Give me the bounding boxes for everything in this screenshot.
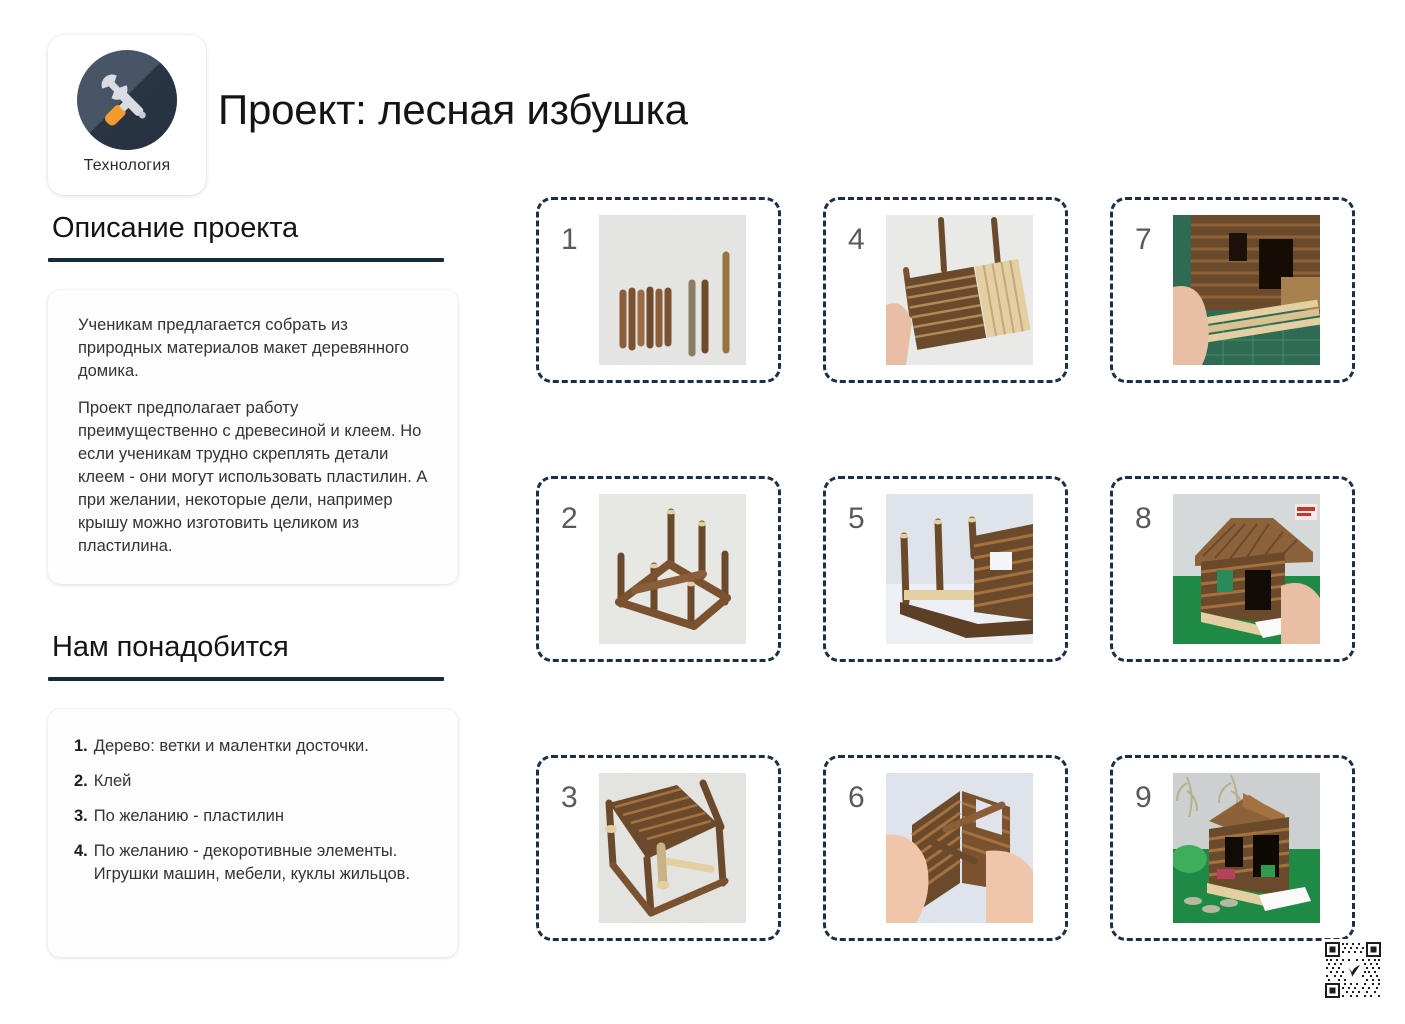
step-photo-assembling-walls bbox=[886, 773, 1033, 923]
description-paragraph-2: Проект предполагает работу преимуществен… bbox=[78, 397, 432, 558]
step-number: 5 bbox=[848, 502, 886, 536]
material-number: 4. bbox=[74, 840, 88, 886]
materials-panel: 1. Дерево: ветки и малентки досточки. 2.… bbox=[48, 709, 458, 957]
material-text: По желанию - пластилин bbox=[94, 805, 432, 828]
step-photo-floor-boards bbox=[886, 215, 1033, 365]
step-photo-first-wall bbox=[886, 494, 1033, 644]
page-title: Проект: лесная избушка bbox=[218, 86, 688, 134]
step-photo-floor-planks bbox=[599, 773, 746, 923]
subject-logo-label: Технология bbox=[84, 157, 171, 175]
materials-rule bbox=[48, 677, 444, 681]
step-number: 1 bbox=[561, 223, 599, 257]
step-number: 6 bbox=[848, 781, 886, 815]
list-item: 2. Клей bbox=[74, 770, 432, 793]
left-column: Описание проекта Ученикам предлагается с… bbox=[48, 212, 458, 957]
description-rule bbox=[48, 258, 444, 262]
step-number: 4 bbox=[848, 223, 886, 257]
list-item: 3. По желанию - пластилин bbox=[74, 805, 432, 828]
qr-code[interactable] bbox=[1322, 939, 1384, 1001]
step-card[interactable]: 1 bbox=[536, 197, 781, 383]
page-header: Технология Проект: лесная избушка bbox=[0, 0, 1405, 200]
material-number: 3. bbox=[74, 805, 88, 828]
material-text: По желанию - декоротивные элементы. Игру… bbox=[94, 840, 432, 886]
subject-logo-tile: Технология bbox=[48, 35, 206, 195]
step-number: 2 bbox=[561, 502, 599, 536]
step-card[interactable]: 4 bbox=[823, 197, 1068, 383]
step-card[interactable]: 8 bbox=[1110, 476, 1355, 662]
description-heading: Описание проекта bbox=[48, 212, 458, 245]
step-number: 8 bbox=[1135, 502, 1173, 536]
materials-heading: Нам понадобится bbox=[48, 631, 458, 664]
step-card[interactable]: 5 bbox=[823, 476, 1068, 662]
step-photo-finished-cabin bbox=[1173, 494, 1320, 644]
list-item: 4. По желанию - декоротивные элементы. И… bbox=[74, 840, 432, 886]
step-card[interactable]: 3 bbox=[536, 755, 781, 941]
material-number: 1. bbox=[74, 735, 88, 758]
description-paragraph-1: Ученикам предлагается собрать из природн… bbox=[78, 314, 432, 383]
step-number: 3 bbox=[561, 781, 599, 815]
list-item: 1. Дерево: ветки и малентки досточки. bbox=[74, 735, 432, 758]
steps-grid: 1 4 bbox=[536, 197, 1376, 941]
step-photo-sticks-sorted bbox=[599, 215, 746, 365]
step-card[interactable]: 9 bbox=[1110, 755, 1355, 941]
step-photo-base-frame bbox=[599, 494, 746, 644]
step-number: 7 bbox=[1135, 223, 1173, 257]
step-card[interactable]: 2 bbox=[536, 476, 781, 662]
material-text: Дерево: ветки и малентки досточки. bbox=[94, 735, 432, 758]
step-photo-roof-slats bbox=[1173, 215, 1320, 365]
material-text: Клей bbox=[94, 770, 432, 793]
material-number: 2. bbox=[74, 770, 88, 793]
wrench-screwdriver-icon bbox=[77, 50, 177, 150]
step-number: 9 bbox=[1135, 781, 1173, 815]
step-card[interactable]: 6 bbox=[823, 755, 1068, 941]
description-panel: Ученикам предлагается собрать из природн… bbox=[48, 290, 458, 584]
step-card[interactable]: 7 bbox=[1110, 197, 1355, 383]
step-photo-decorated-scene bbox=[1173, 773, 1320, 923]
